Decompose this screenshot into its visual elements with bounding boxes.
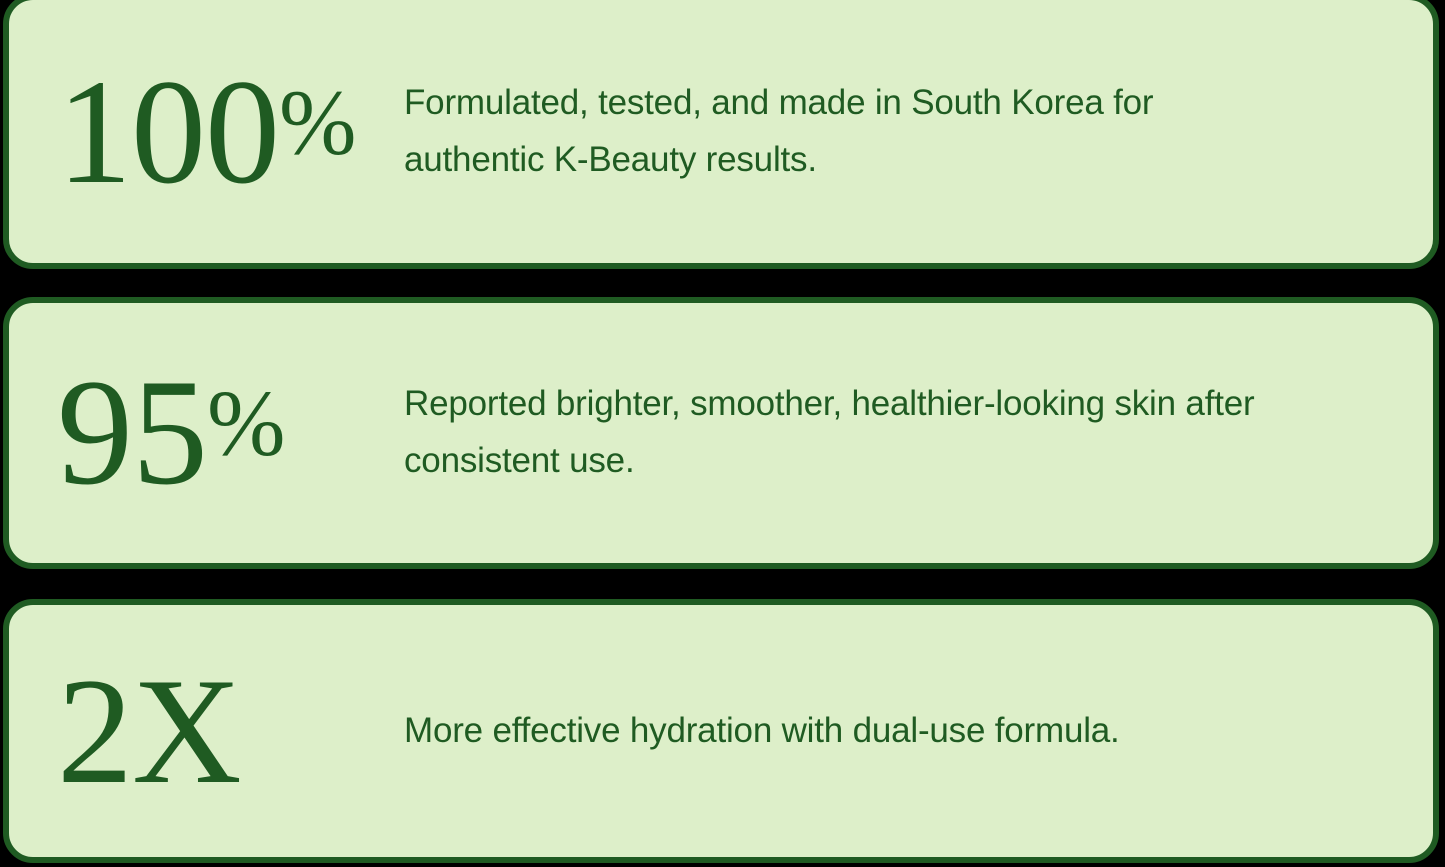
- stat-value-hydration-multiplier: 2X: [9, 655, 404, 807]
- stat-card-made-in-korea: 100% Formulated, tested, and made in Sou…: [3, 0, 1439, 269]
- stat-description-hydration-multiplier: More effective hydration with dual-use f…: [404, 703, 1384, 760]
- stat-value-reported-results: 95%: [9, 360, 404, 506]
- stat-suffix-multiplier: X: [132, 655, 240, 807]
- stat-suffix-percent: %: [207, 377, 285, 471]
- stat-description-made-in-korea: Formulated, tested, and made in South Ko…: [404, 75, 1384, 188]
- stat-value-made-in-korea: 100%: [9, 60, 404, 204]
- stat-card-reported-results: 95% Reported brighter, smoother, healthi…: [3, 297, 1439, 569]
- stat-number: 2: [57, 659, 132, 805]
- stat-card-hydration-multiplier: 2X More effective hydration with dual-us…: [3, 599, 1439, 863]
- stat-number: 100: [57, 60, 279, 204]
- stat-description-reported-results: Reported brighter, smoother, healthier-l…: [404, 376, 1384, 489]
- stat-suffix-percent: %: [279, 77, 355, 170]
- stat-number: 95: [57, 360, 207, 506]
- stats-panel: 100% Formulated, tested, and made in Sou…: [0, 0, 1445, 867]
